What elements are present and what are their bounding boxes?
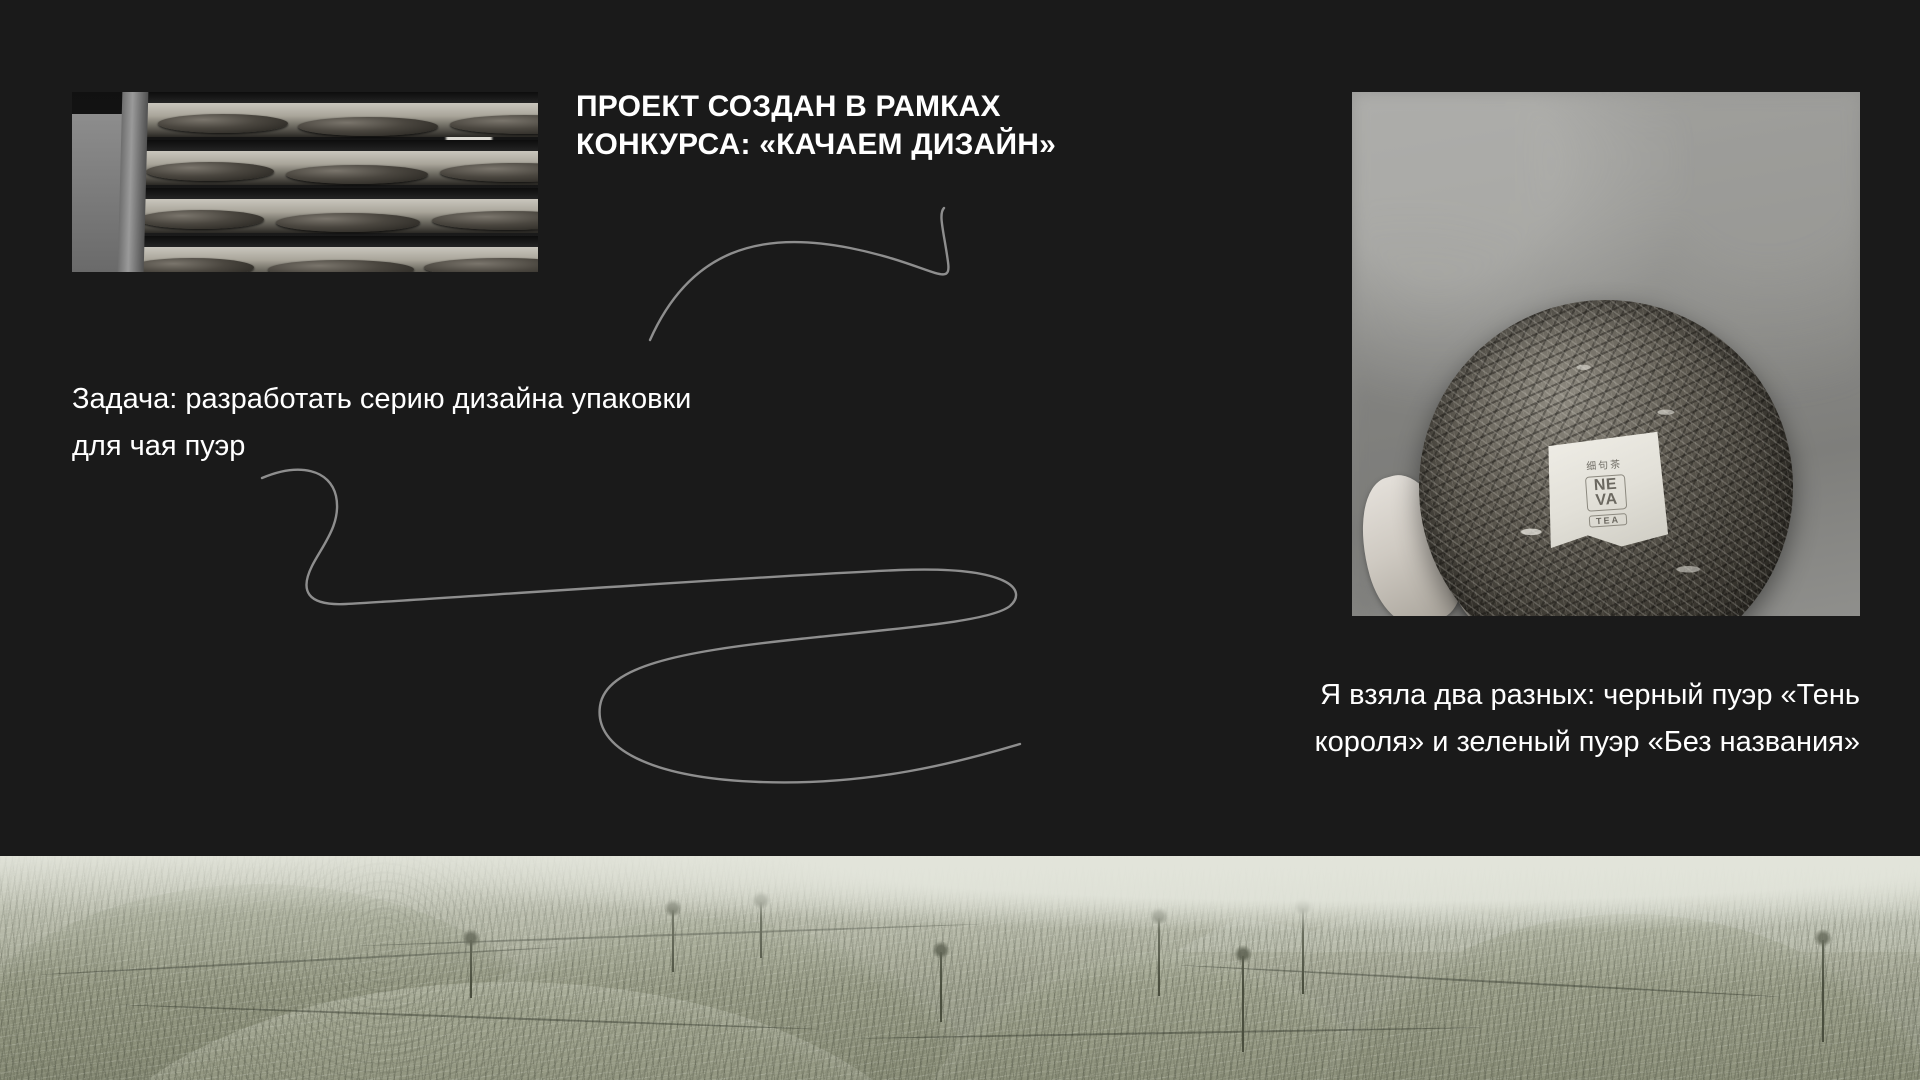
tea-choice-line-2: короля» и зеленый пуэр «Без названия» [1080,719,1860,766]
rack-shelf-edge [132,92,538,103]
tea-choice-statement: Я взяла два разных: черный пуэр «Тень ко… [1080,672,1860,766]
tea-cake [138,210,264,229]
neva-tea-label: 细句茶 NE VA TEA [1543,432,1669,552]
tea-cake [130,258,254,272]
page-title-line-1: ПРОЕКТ СОЗДАН В РАМКАХ [576,88,1276,126]
tea-cake [268,260,414,272]
racks-frame-post [118,92,149,272]
page-title: ПРОЕКТ СОЗДАН В РАМКАХ КОНКУРСА: «КАЧАЕМ… [576,88,1276,165]
neva-logo-tea: TEA [1589,513,1628,528]
tea-cake [158,114,288,133]
neva-logo-mark: NE VA [1585,474,1627,512]
racks-wall [72,114,124,272]
page-title-line-2: КОНКУРСА: «КАЧАЕМ ДИЗАЙН» [576,126,1276,164]
task-statement-line-2: для чая пуэр [72,423,1012,470]
photo-tea-plantation-hills [0,856,1920,1080]
label-cjk-text: 细句茶 [1586,455,1623,472]
rack-shelf-edge [132,140,538,151]
presentation-slide: ПРОЕКТ СОЗДАН В РАМКАХ КОНКУРСА: «КАЧАЕМ… [0,0,1920,1080]
tea-cake [286,165,428,184]
photo-hand-holding-puerh-cake: 细句茶 NE VA TEA [1352,92,1860,616]
tea-choice-line-1: Я взяла два разных: черный пуэр «Тень [1080,672,1860,719]
rack-shelf-edge [132,188,538,199]
atmospheric-haze [0,856,1920,1080]
rack-shelf-edge [132,236,538,247]
photo-tea-cakes-drying-racks [72,92,538,272]
task-statement: Задача: разработать серию дизайна упаков… [72,376,1012,470]
tea-cake [146,162,274,181]
puerh-tea-cake: 细句茶 NE VA TEA [1419,300,1793,616]
neva-logo-mid: VA [1595,492,1618,508]
tea-cake [276,213,420,232]
tea-cake [298,117,438,136]
task-statement-line-1: Задача: разработать серию дизайна упаков… [72,376,1012,423]
